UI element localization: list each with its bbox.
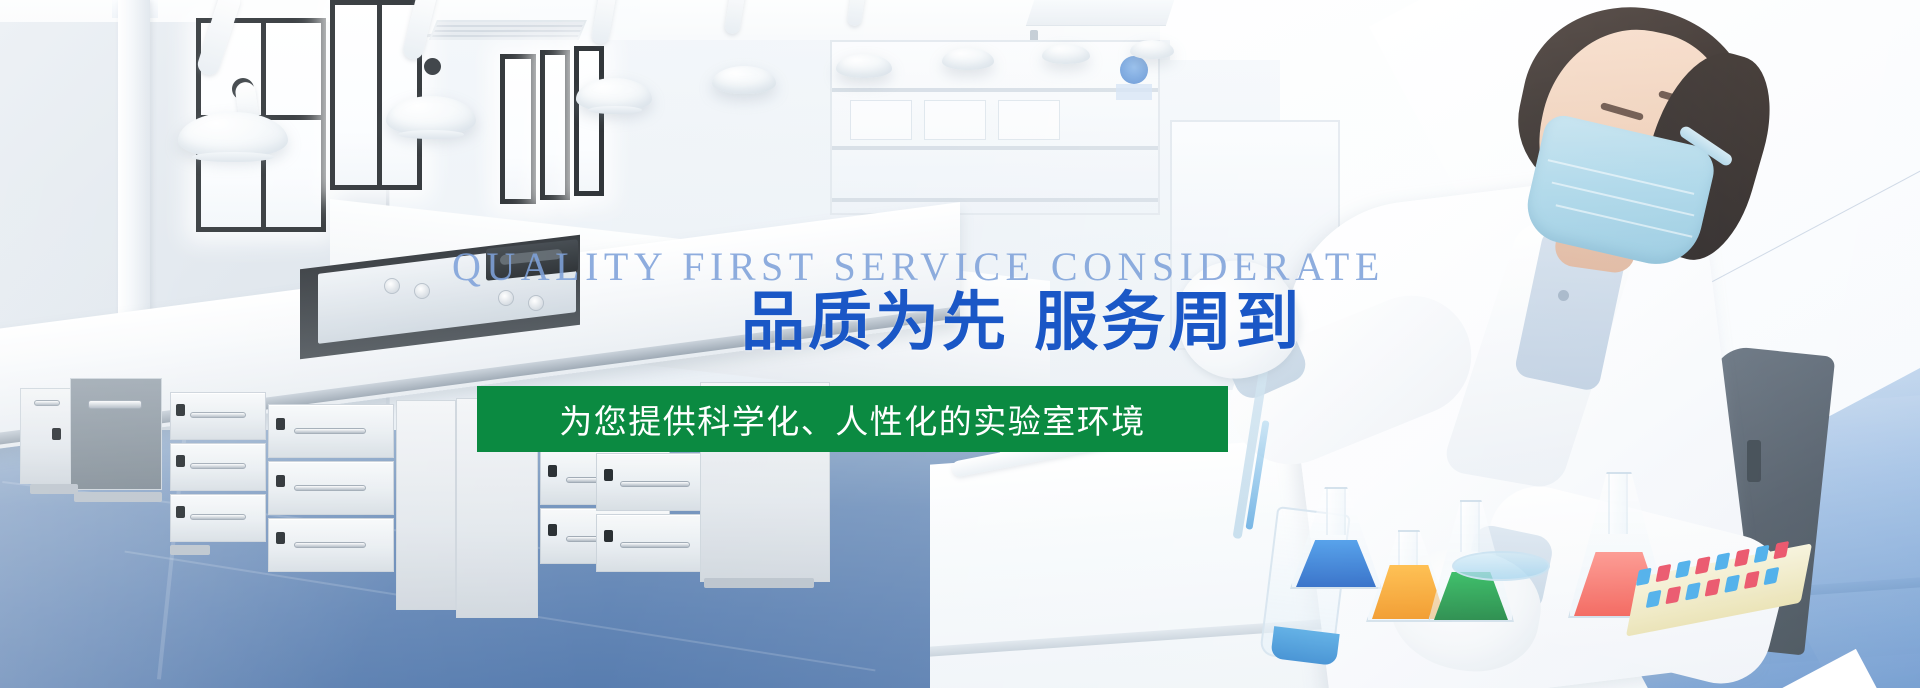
subtitle-bar: 为您提供科学化、人性化的实验室环境 [477,386,1228,452]
english-tagline: QUALITY FIRST SERVICE CONSIDERATE [452,247,1385,287]
subtitle-text: 为您提供科学化、人性化的实验室环境 [559,395,1146,443]
hero-banner: QUALITY FIRST SERVICE CONSIDERATE 品质为先 服… [0,0,1920,688]
banner-text-overlay: QUALITY FIRST SERVICE CONSIDERATE 品质为先 服… [0,0,1920,688]
banner-headline: 品质为先 服务周到 [741,290,1302,357]
